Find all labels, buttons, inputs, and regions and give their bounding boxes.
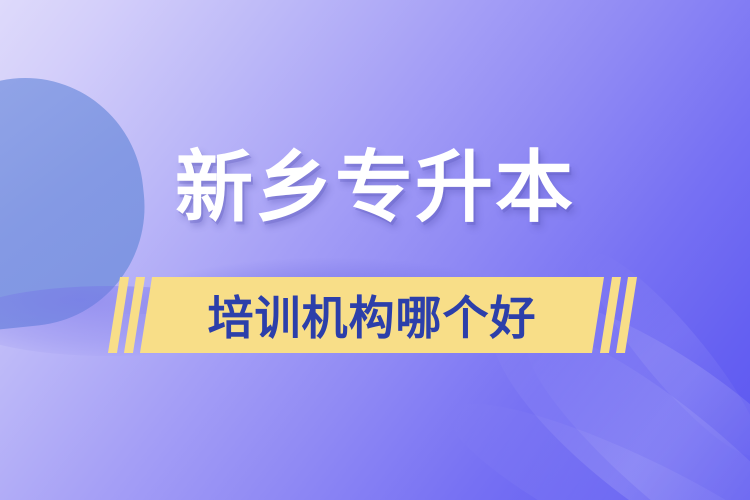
ribbon-swoosh-icon (568, 236, 750, 472)
banner-subheadline: 培训机构哪个好 (146, 277, 598, 353)
subheadline-banner: 培训机构哪个好 (112, 277, 638, 353)
banner-headline: 新乡专升本 (0, 148, 750, 226)
promo-banner: 新乡专升本 培训机构哪个好 (0, 0, 750, 500)
ribbon-swoosh-icon (431, 372, 750, 500)
